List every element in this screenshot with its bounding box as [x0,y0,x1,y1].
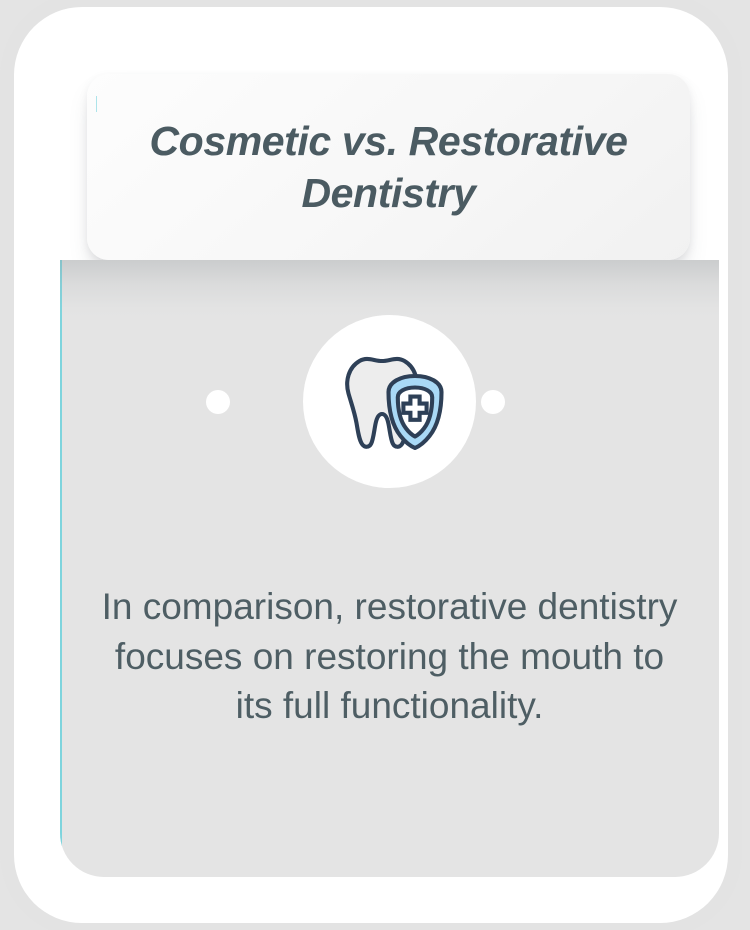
bullet-dot-right-icon [481,390,505,414]
icon-badge [303,315,476,488]
panel-top-shadow [60,260,719,322]
slide-canvas: Cosmetic vs. Restorative Dentistry [0,0,750,930]
page-title: Cosmetic vs. Restorative Dentistry [105,115,672,220]
content-panel: In comparison, restorative dentistry foc… [60,260,719,877]
title-card: Cosmetic vs. Restorative Dentistry [87,74,690,260]
icon-row [60,315,719,543]
tooth-with-shield-icon [326,338,454,466]
card-outer-frame: Cosmetic vs. Restorative Dentistry [14,7,728,923]
accent-tick [96,96,97,112]
card-body-text: In comparison, restorative dentistry foc… [100,582,679,731]
bullet-dot-left-icon [206,390,230,414]
